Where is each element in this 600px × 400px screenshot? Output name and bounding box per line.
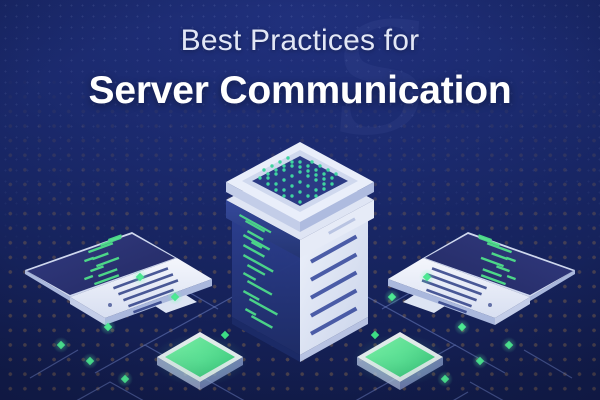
- headline-subtitle: Best Practices for: [0, 26, 600, 56]
- headline-title: Server Communication: [0, 71, 600, 110]
- network-pad-left: [152, 332, 248, 390]
- isometric-illustration: [0, 110, 600, 400]
- server-tower: [226, 142, 374, 362]
- poster-canvas: S Best Practices for Server Communicatio…: [0, 0, 600, 400]
- headline-block: Best Practices for Server Communication: [0, 0, 600, 110]
- laptop-left: [25, 232, 212, 325]
- network-pad-right: [352, 332, 448, 390]
- laptop-right: [388, 232, 575, 325]
